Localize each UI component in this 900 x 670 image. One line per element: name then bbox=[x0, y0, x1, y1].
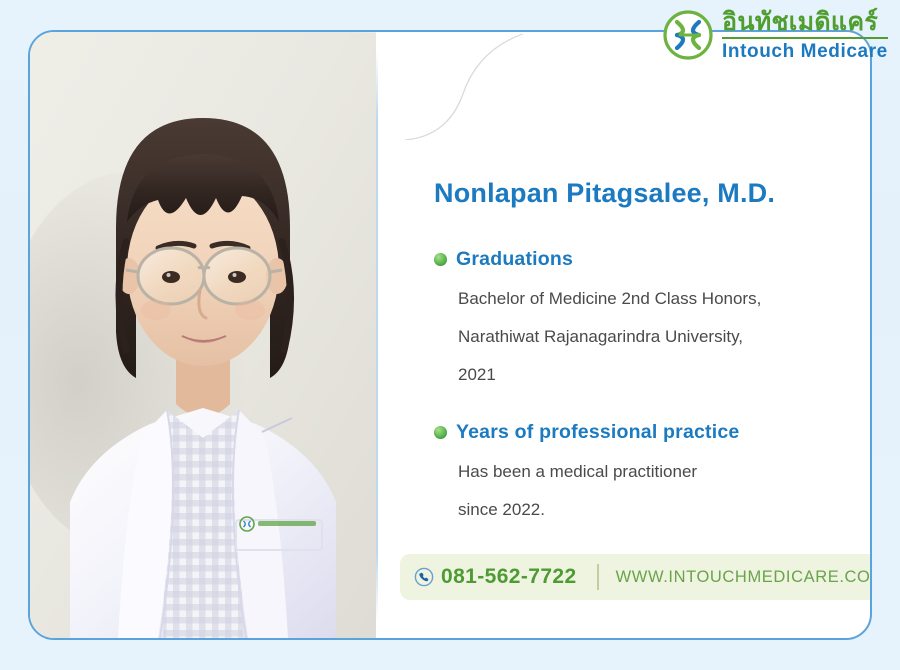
section-years-of-practice-title: Years of professional practice bbox=[456, 421, 739, 444]
section-years-of-practice-body: Has been a medical practitioner since 20… bbox=[458, 453, 739, 529]
section-graduations-body: Bachelor of Medicine 2nd Class Honors, N… bbox=[458, 280, 761, 394]
brand-name-latin: Intouch Medicare bbox=[722, 42, 888, 61]
bullet-icon bbox=[434, 253, 447, 266]
brand-logo[interactable]: อินทัชเมดิแคร์ Intouch Medicare bbox=[662, 9, 888, 61]
profile-card-page: Nonlapan Pitagsalee, M.D. Graduations Ba… bbox=[0, 0, 900, 670]
body-line: 2021 bbox=[458, 356, 761, 394]
page-title: Nonlapan Pitagsalee, M.D. bbox=[434, 178, 775, 209]
section-years-of-practice-header: Years of professional practice bbox=[434, 421, 739, 444]
profile-text-pane: Nonlapan Pitagsalee, M.D. Graduations Ba… bbox=[376, 32, 870, 638]
brand-name-thai: อินทัชเมดิแคร์ bbox=[722, 10, 888, 35]
doctor-photo-illustration bbox=[30, 32, 376, 638]
body-line: since 2022. bbox=[458, 491, 739, 529]
body-line: Has been a medical practitioner bbox=[458, 453, 739, 491]
body-line: Narathiwat Rajanagarindra University, bbox=[458, 318, 761, 356]
phone-icon[interactable] bbox=[414, 567, 434, 587]
bullet-icon bbox=[434, 426, 447, 439]
phone-number[interactable]: 081-562-7722 bbox=[441, 565, 577, 589]
footer-divider bbox=[597, 564, 599, 590]
brand-wordmark: อินทัชเมดิแคร์ Intouch Medicare bbox=[722, 10, 888, 61]
section-graduations: Graduations Bachelor of Medicine 2nd Cla… bbox=[434, 248, 761, 394]
section-years-of-practice: Years of professional practice Has been … bbox=[434, 421, 739, 529]
doctor-photo bbox=[30, 32, 376, 638]
body-line: Bachelor of Medicine 2nd Class Honors, bbox=[458, 280, 761, 318]
section-graduations-header: Graduations bbox=[434, 248, 761, 271]
website-url[interactable]: WWW.INTOUCHMEDICARE.COM bbox=[616, 568, 872, 587]
brand-underline bbox=[722, 37, 888, 39]
intouch-medicare-logo-mark-icon bbox=[662, 9, 714, 61]
section-graduations-title: Graduations bbox=[456, 248, 573, 271]
contact-footer: 081-562-7722 WWW.INTOUCHMEDICARE.COM bbox=[400, 554, 872, 600]
doctor-profile-card: Nonlapan Pitagsalee, M.D. Graduations Ba… bbox=[28, 30, 872, 640]
